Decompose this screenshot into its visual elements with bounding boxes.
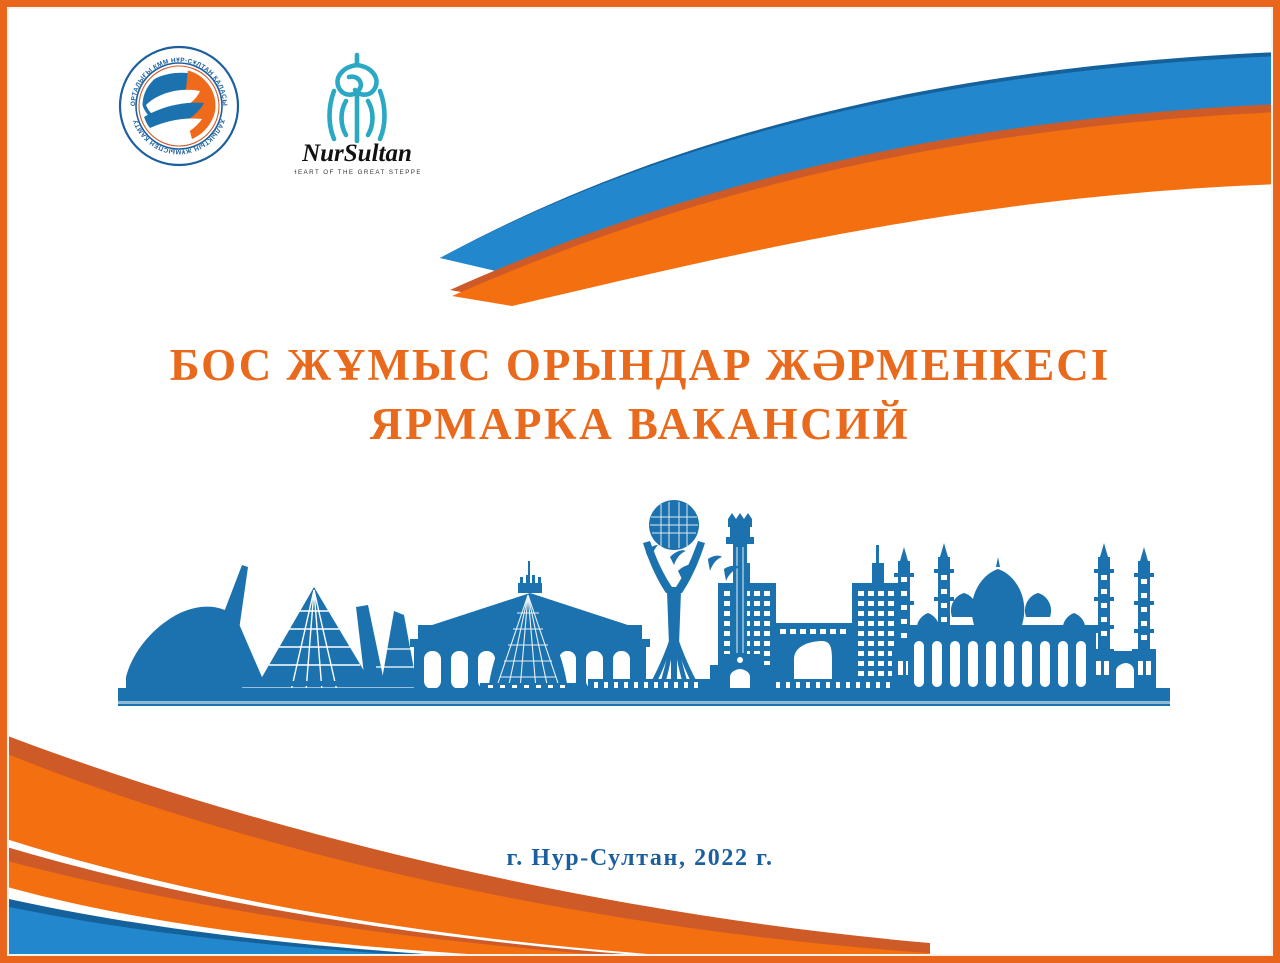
nur-sultan-skyline-illustration — [118, 495, 1170, 710]
title-block: БОС ЖҰМЫС ОРЫНДАР ЖӘРМЕНКЕСІ ЯРМАРКА ВАК… — [0, 336, 1280, 455]
hazrat-sultan-mosque-shape — [892, 543, 1156, 691]
title-line-russian: ЯРМАРКА ВАКАНСИЙ — [0, 395, 1280, 454]
city-brand-logo: NurSultan HEART OF THE GREAT STEPPE — [294, 45, 420, 177]
pyramid-of-peace-shape — [236, 587, 436, 691]
footer-city-year: г. Нур-Султан, 2022 г. — [0, 845, 1280, 872]
svg-text:HEART OF THE GREAT STEPPE: HEART OF THE GREAT STEPPE — [294, 169, 420, 176]
presentation-slide: ОРТАЛЫҒЫ КММ НҰР-СҰЛТАН ҚАЛАСЫ ХАЛЫҚТЫҢ … — [0, 0, 1280, 963]
palace-of-independence-shape — [126, 565, 268, 691]
svg-text:NurSultan: NurSultan — [301, 140, 412, 167]
title-line-kazakh: БОС ЖҰМЫС ОРЫНДАР ЖӘРМЕНКЕСІ — [0, 336, 1280, 395]
logo-row: ОРТАЛЫҒЫ КММ НҰР-СҰЛТАН ҚАЛАСЫ ХАЛЫҚТЫҢ … — [118, 45, 420, 177]
baiterek-tower-shape — [638, 500, 710, 691]
footer-block: г. Нур-Султан, 2022 г. — [0, 845, 1280, 872]
employment-center-logo: ОРТАЛЫҒЫ КММ НҰР-СҰЛТАН ҚАЛАСЫ ХАЛЫҚТЫҢ … — [118, 45, 240, 167]
